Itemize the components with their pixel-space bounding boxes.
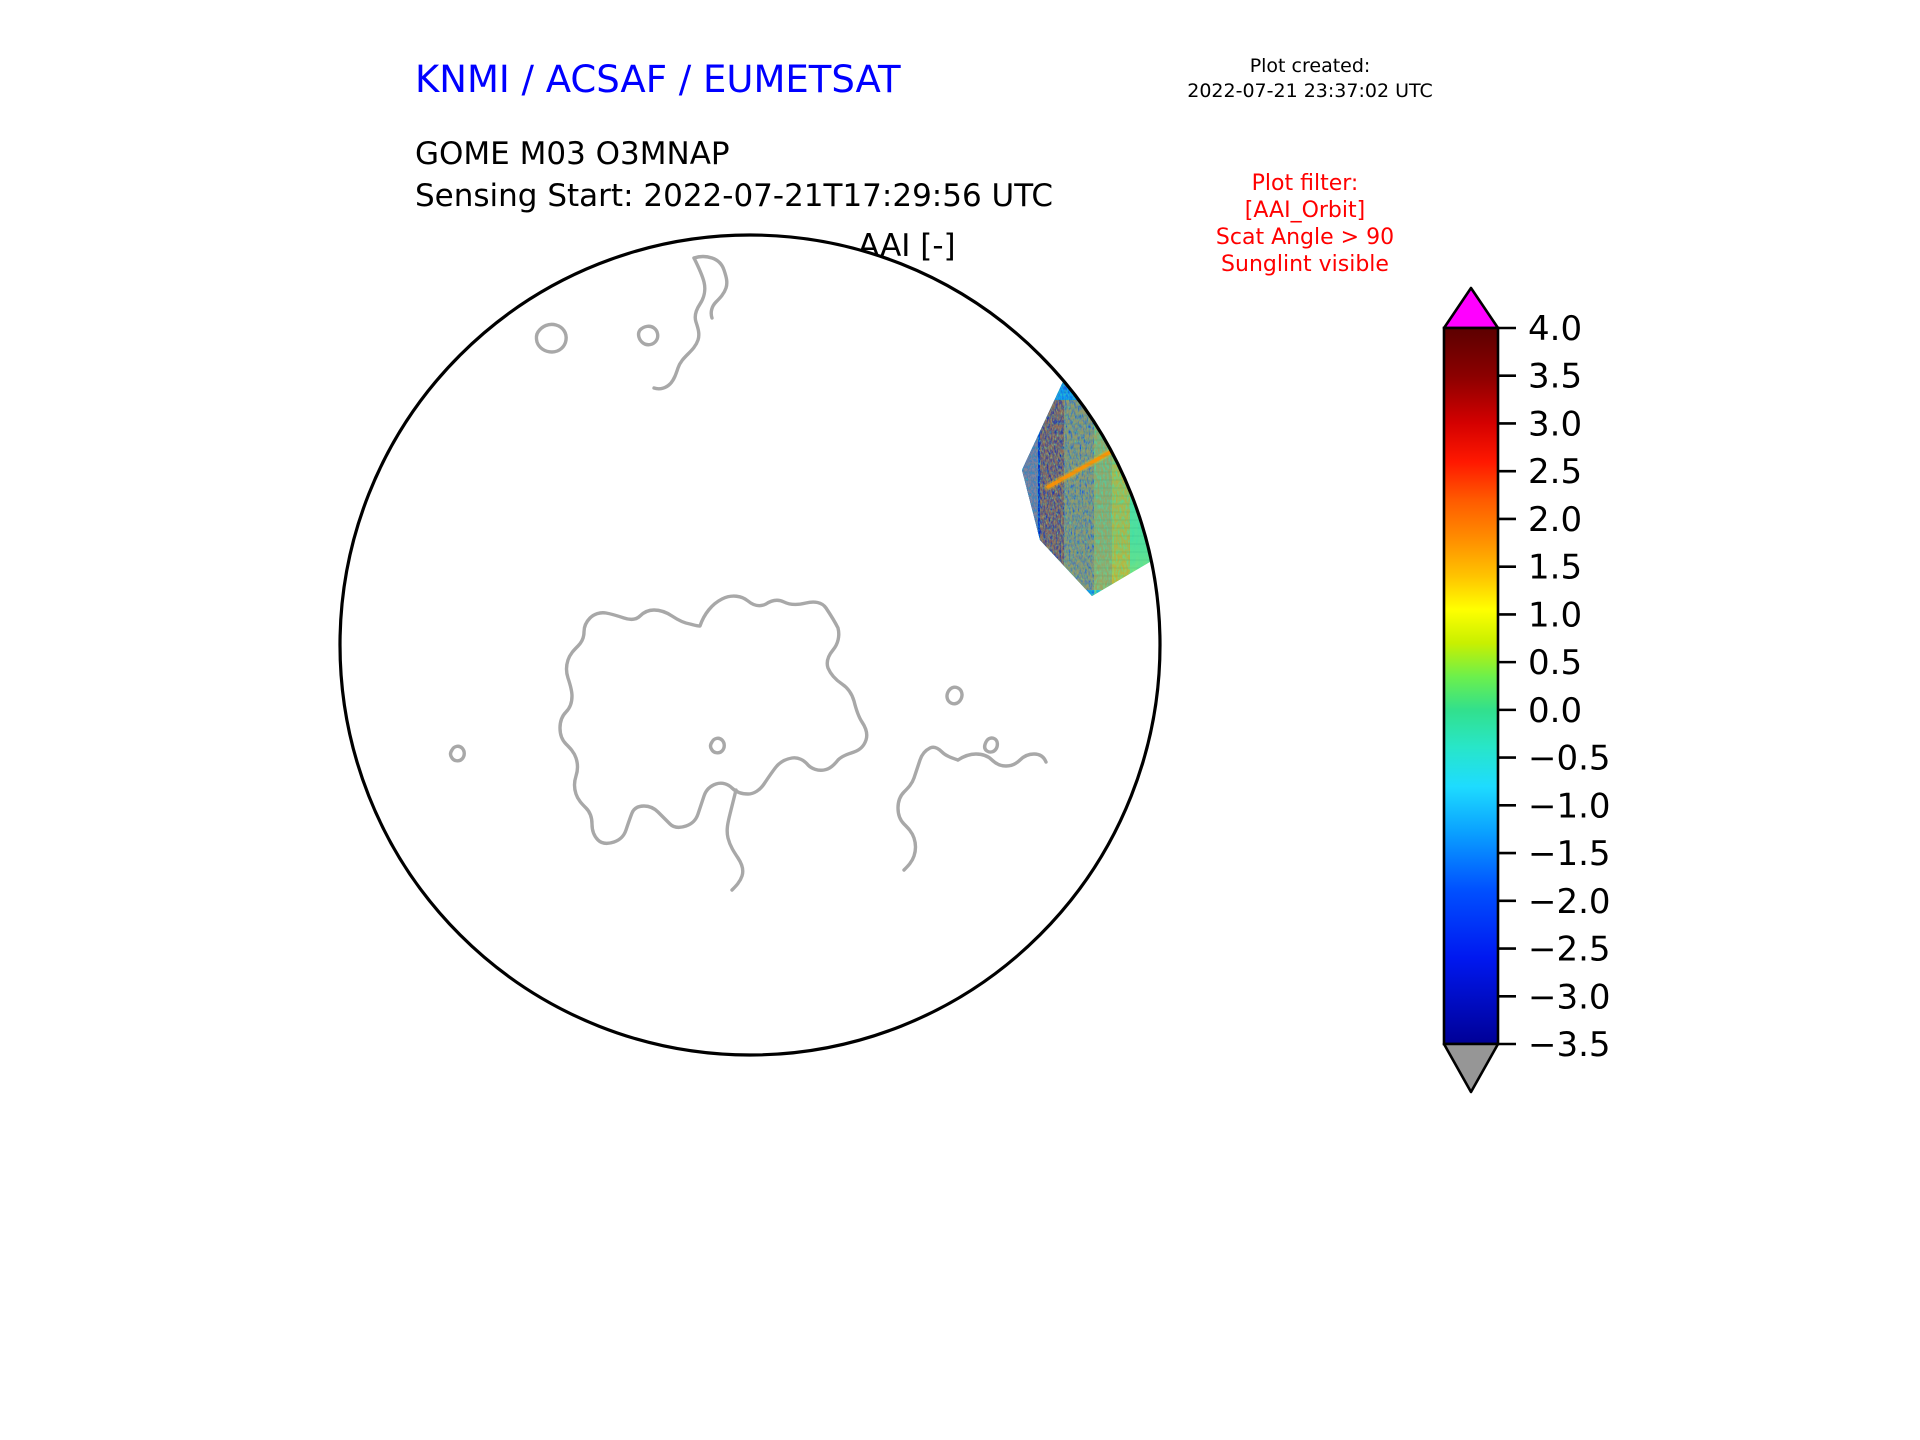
coastline-se-detail: [1272, 864, 1308, 875]
colorbar-tick-label: 4.0: [1528, 309, 1582, 349]
colorbar-tick-label: −3.5: [1528, 1025, 1611, 1065]
colorbar-tick-label: −1.5: [1528, 834, 1611, 874]
colorbar-tick-label: 1.0: [1528, 595, 1582, 635]
plot-canvas: KNMI / ACSAF / EUMETSAT Plot created: 20…: [0, 0, 1920, 1440]
coastline-australia-south: [1338, 857, 1398, 880]
colorbar: 4.03.53.02.52.01.51.00.50.0−0.5−1.0−1.5−…: [1430, 280, 1830, 1110]
colorbar-tick-label: −2.5: [1528, 930, 1611, 970]
colorbar-tick-label: −0.5: [1528, 739, 1611, 779]
colorbar-tick-label: 2.0: [1528, 500, 1582, 540]
colorbar-tick-label: 3.5: [1528, 357, 1582, 397]
colorbar-tick-label: −3.0: [1528, 977, 1611, 1017]
colorbar-tick-label: 0.5: [1528, 643, 1582, 683]
colorbar-gradient: [1444, 328, 1498, 1044]
coastline-newzealand-north: [1206, 862, 1338, 880]
colorbar-tick-label: 2.5: [1528, 452, 1582, 492]
coastline-tasmania: [1215, 939, 1237, 962]
colorbar-tick-label: −2.0: [1528, 882, 1611, 922]
colorbar-under-arrow: [1444, 1044, 1498, 1092]
coastline-newzealand-arc: [1199, 880, 1272, 1016]
colorbar-tick-label: 3.0: [1528, 404, 1582, 444]
colorbar-tick-label: 0.0: [1528, 691, 1582, 731]
colorbar-tick-label: 1.5: [1528, 548, 1582, 588]
globe-disc: [340, 235, 1160, 1055]
colorbar-over-arrow: [1444, 288, 1498, 328]
colorbar-tick-label: −1.0: [1528, 786, 1611, 826]
colorbar-ticks: 4.03.53.02.52.01.51.00.50.0−0.5−1.0−1.5−…: [1498, 309, 1611, 1065]
